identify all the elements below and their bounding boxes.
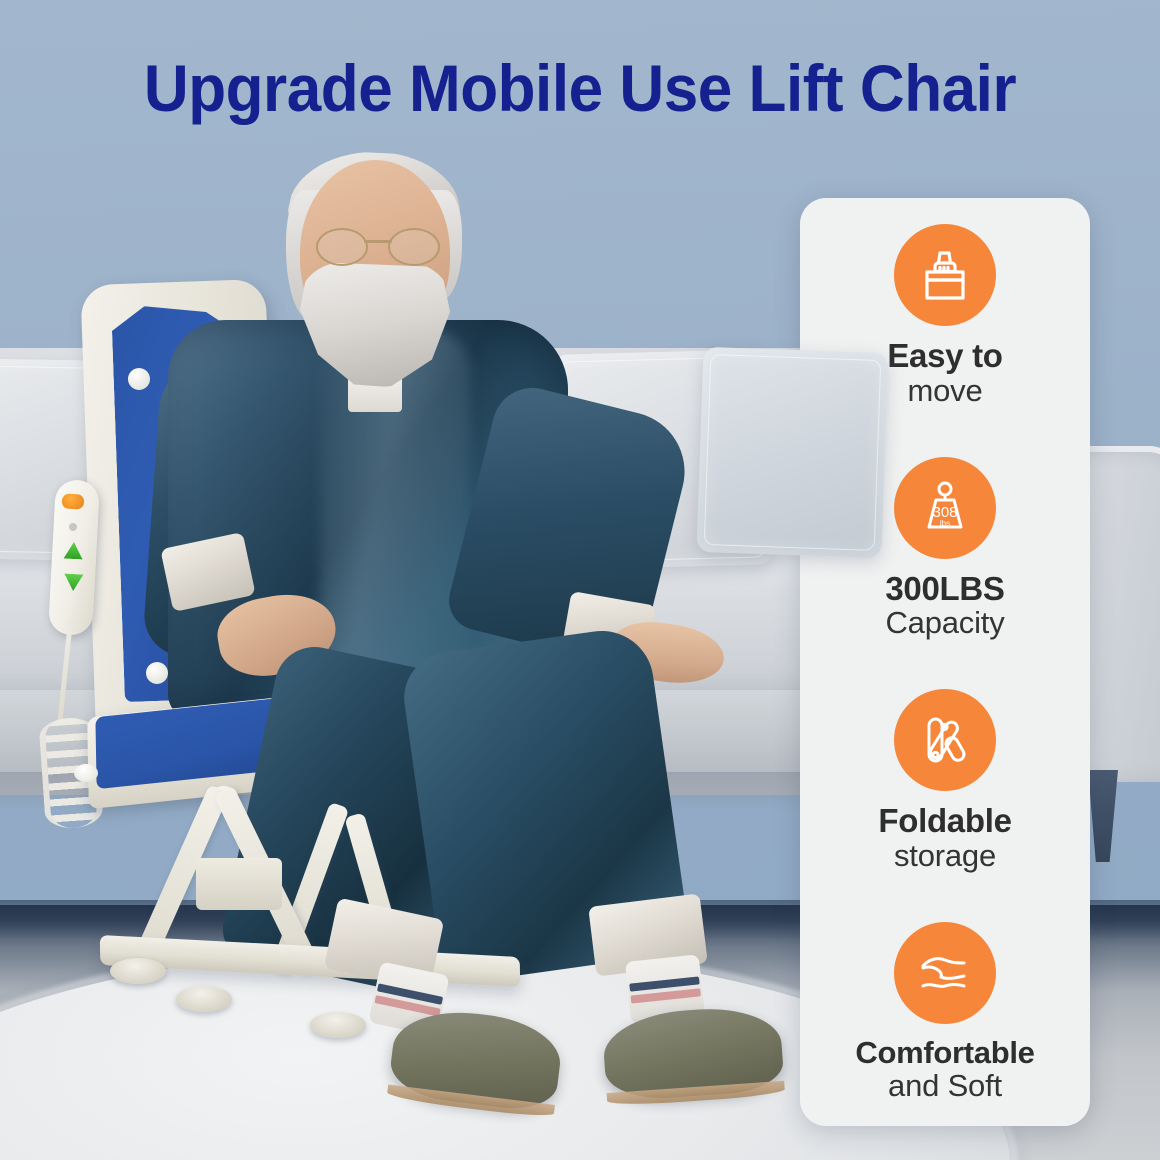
seat-stud-left (74, 764, 98, 782)
hand-lifting-box-icon (894, 224, 996, 326)
feature-title: Easy to (887, 338, 1002, 374)
feature-subtitle: storage (894, 839, 996, 874)
feature-title: Foldable (878, 803, 1011, 839)
suction-cup-foot-1 (110, 958, 166, 984)
eyeglass-lens-left (316, 228, 368, 266)
suction-cup-foot-3 (310, 1012, 366, 1038)
feature-title: Comfortable (855, 1036, 1034, 1069)
feature-subtitle: and Soft (888, 1069, 1002, 1104)
sock-stripe-rose (631, 988, 701, 1003)
sofa-cushion-back (696, 347, 888, 558)
folding-hinge-icon (894, 689, 996, 791)
eyeglasses (316, 228, 440, 262)
feature-foldable-storage[interactable]: Foldable storage (810, 689, 1080, 873)
product-marketing-image: Upgrade Mobile Use Lift Chair Easy to mo… (0, 0, 1160, 1160)
hand-soft-cushion-icon (894, 922, 996, 1024)
lift-motor-housing (196, 858, 282, 910)
eyeglass-lens-right (388, 228, 440, 266)
feature-comfortable-soft[interactable]: Comfortable and Soft (810, 922, 1080, 1104)
feature-subtitle: move (907, 374, 982, 409)
weight-capacity-icon: 308 lbs (894, 457, 996, 559)
feature-list: Easy to move 308 lbs 300LBS Capacity (800, 198, 1090, 1126)
feature-title: 300LBS (885, 571, 1004, 607)
suction-cup-foot-2 (176, 986, 232, 1012)
cushion-piping (704, 354, 882, 551)
feature-subtitle: Capacity (885, 606, 1004, 641)
eyeglass-bridge (364, 240, 392, 243)
weight-unit: lbs (940, 519, 950, 528)
page-title: Upgrade Mobile Use Lift Chair (35, 50, 1125, 126)
feature-panel: Easy to move 308 lbs 300LBS Capacity (800, 198, 1090, 1126)
